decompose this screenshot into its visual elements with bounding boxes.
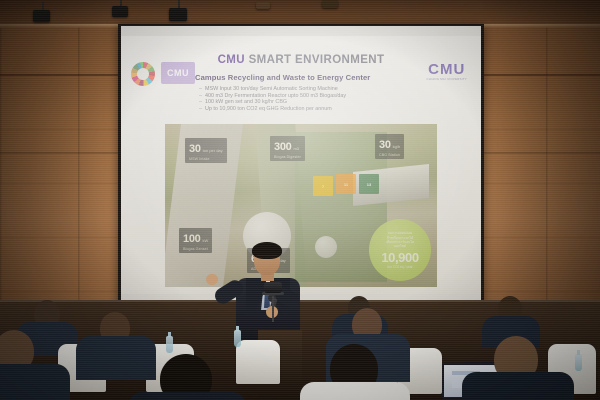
chair [236,340,280,384]
camera-icon [264,282,282,293]
stat-chip-msw-intake: 30ton per day MSW Intake [185,138,227,163]
cmu-logo-left-mark: CMU [167,68,189,78]
slide-title-rest: SMART ENVIRONMENT [245,54,384,66]
presenter-glasses-icon [256,255,278,262]
sdg-icon-7-number: 7 [322,184,324,189]
presentation-photo-scene: CMU CMU CHIANG MAI UNIVERSITY CMU SMART … [0,0,600,400]
stat-chip-biogas-digester: 300m3 Biogas Digester [270,136,305,161]
audience-shoulders [462,372,574,400]
list-item: MSW Input 30 ton/day Semi Automatic Sort… [199,86,439,93]
highlight-thai-line-4: ออกไซด์ [394,244,406,248]
audience-shoulders [76,336,156,380]
slide-bullet-list: MSW Input 30 ton/day Semi Automatic Sort… [199,86,439,112]
stat-value: 30 [189,143,201,155]
stat-unit: ton per day [203,148,223,153]
stat-caption: Biogas Genset [183,248,208,252]
list-item: 400 m3 Dry Fermentation Reactor upto 500… [199,93,439,100]
stat-unit: m3 [293,146,299,151]
ceiling-spotlight-icon [33,10,50,22]
audience-shoulders [0,364,70,400]
cmu-logo-right-sub: CHIANG MAI UNIVERSITY [427,77,468,81]
presenter-hand-left [206,274,218,285]
sdg-icon-13-number: 13 [367,182,371,187]
stat-caption: CBG Station [379,154,400,158]
slide-title: CMU SMART ENVIRONMENT [121,54,481,66]
water-bottle [166,336,173,353]
photo-digester-tank [315,236,337,258]
stat-unit: kW [202,238,208,243]
ceiling-spotlight-icon [322,0,338,8]
water-bottle [234,330,241,347]
audience-shoulders [300,382,410,400]
water-bottle [575,354,582,371]
sdg-icon-13: 13 [359,174,379,194]
sdg-icon-11-number: 11 [344,182,348,187]
list-item: 100 kW gen set and 30 kg/hr CBG [199,99,439,106]
sdg-icon-7: 7 [313,176,333,196]
ceiling-spotlight-icon [256,2,270,9]
stat-caption: Biogas Digester [274,156,301,160]
stat-chip-genset: 100kW Biogas Genset [179,228,212,253]
stat-unit: kg/h [393,144,401,149]
stat-value: 30 [379,139,391,151]
highlight-number: 10,900 [381,250,418,265]
ghg-reduction-highlight-badge: ลดการปลดปล่อย ก๊าซเรือนกระจกได้ เทียบเท่… [369,219,431,281]
camera-tripod-leg [272,296,274,322]
ceiling-spotlight-icon [169,8,187,21]
highlight-unit: ton CO2 eq / year [387,265,412,269]
stat-value: 100 [183,233,200,245]
sdg-icon-11: 11 [336,174,356,194]
stat-caption: MSW Intake [189,158,223,162]
slide-title-brand: CMU [218,54,245,66]
list-item: Up to 10,900 ton CO2 eq GHG Reduction pe… [199,106,439,113]
slide-subtitle: Campus Recycling and Waste to Energy Cen… [195,73,370,82]
stat-value: 300 [274,141,291,153]
stat-chip-cbg-station: 30kg/h CBG Station [375,134,404,159]
ceiling-spotlight-icon [112,6,128,17]
audience-shoulders [128,392,246,400]
